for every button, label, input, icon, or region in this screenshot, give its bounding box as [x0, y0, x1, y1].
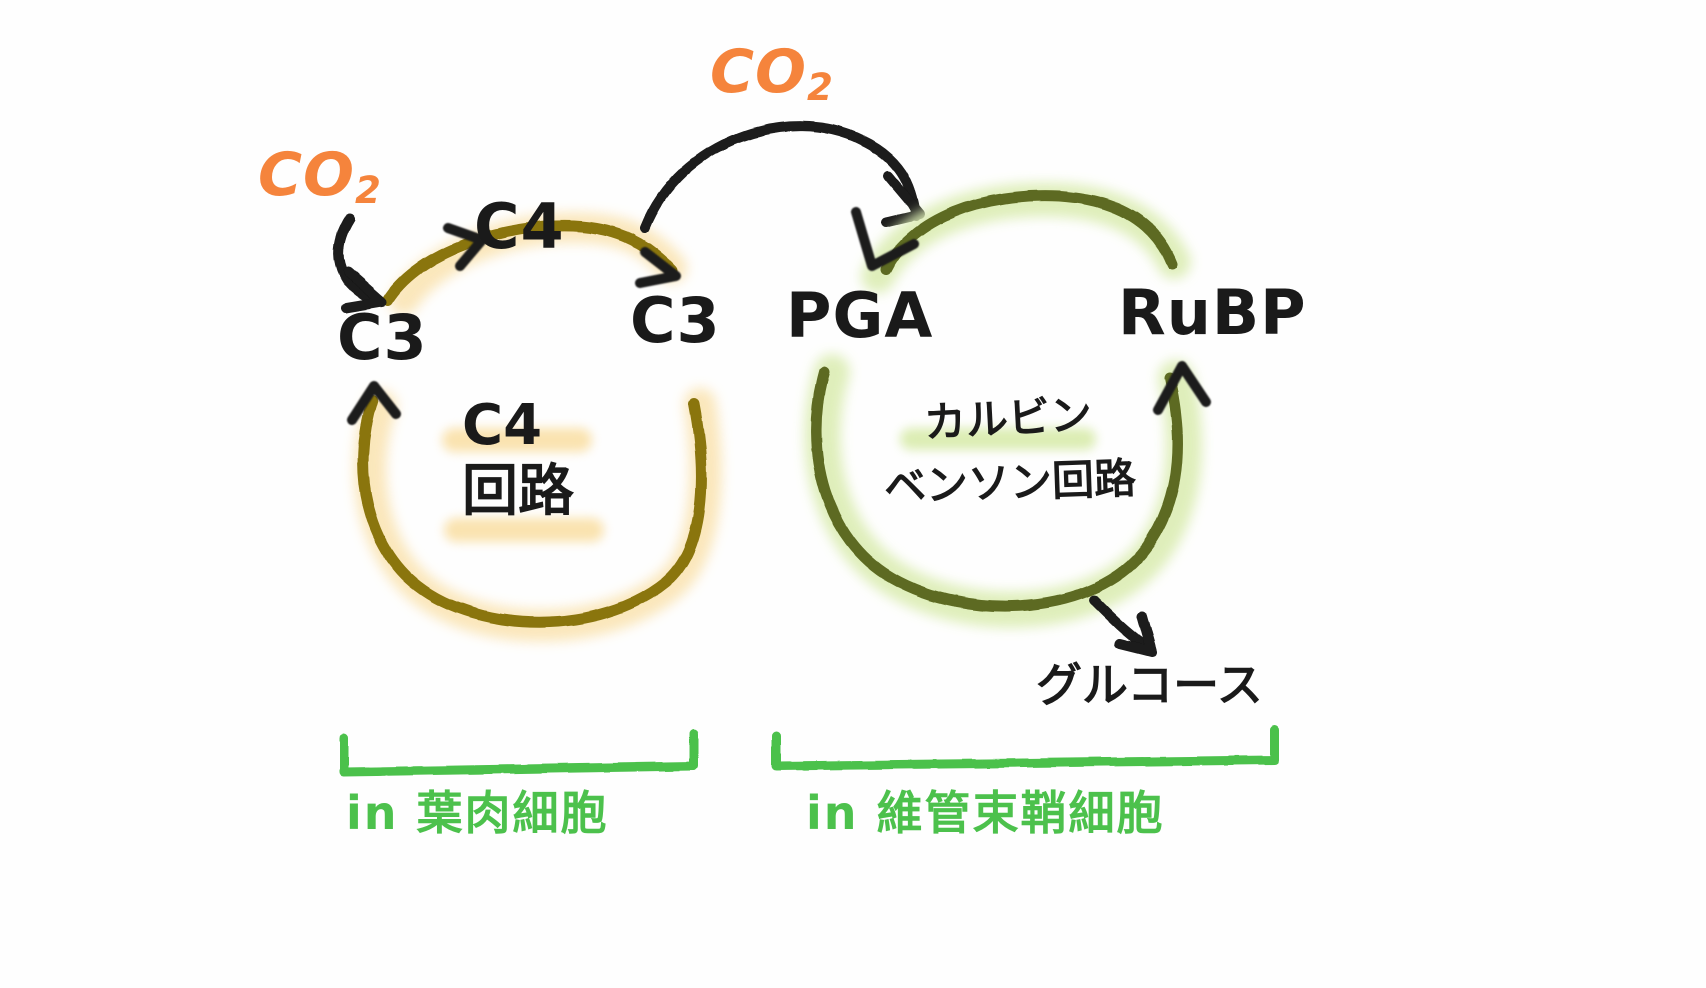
co2-left-arrow — [339, 218, 382, 308]
calvin-line1-highlight — [900, 428, 1096, 450]
label-c4-cycle-line1: C4 — [462, 398, 542, 454]
calvin-line2-text: ベンソン回路 — [883, 458, 1136, 509]
glucose-arrow — [1094, 600, 1152, 652]
diagram-canvas: CO2 CO2 C4 C3 C3 PGA RuBP C4 回路 カルビン ベンソ… — [0, 0, 1706, 988]
bracket-bundle-sheath — [776, 730, 1274, 766]
label-calvin-line1: カルビン — [924, 398, 1092, 440]
label-c4-cycle-line2: 回路 — [462, 464, 574, 520]
diagram-strokes — [0, 0, 1706, 988]
co2-top-arrow — [645, 126, 920, 228]
label-calvin-line2: ベンソン回路 — [884, 462, 1136, 504]
c4-cycle-line2-text: 回路 — [462, 464, 574, 520]
c4-cycle-line1-highlight — [442, 428, 592, 452]
bracket-mesophyll — [344, 734, 694, 772]
c4-cycle-line2-highlight — [444, 518, 604, 542]
